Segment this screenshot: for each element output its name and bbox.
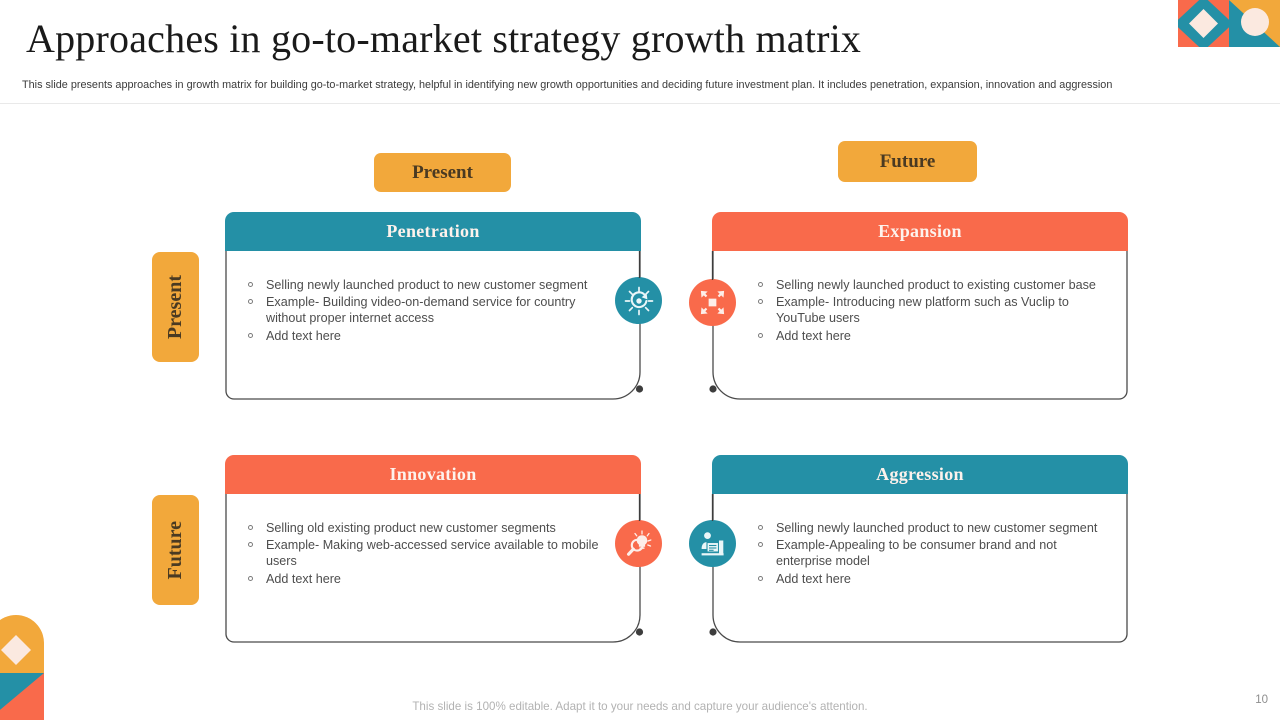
list-item: Example-Appealing to be consumer brand a… [753, 537, 1110, 569]
list-item: Example- Building video-on-demand servic… [243, 294, 617, 326]
bullet-list-innovation: Selling old existing product new custome… [243, 520, 617, 587]
page-subtitle: This slide presents approaches in growth… [22, 78, 1188, 92]
row-label-future[interactable]: Future [152, 495, 199, 605]
card-title-penetration: Penetration [225, 212, 641, 251]
card-penetration[interactable]: Penetration Selling newly launched produ… [225, 212, 641, 400]
card-innovation[interactable]: Innovation Selling old existing product … [225, 455, 641, 643]
footer-note: This slide is 100% editable. Adapt it to… [0, 700, 1280, 713]
card-title-innovation: Innovation [225, 455, 641, 494]
column-label-present[interactable]: Present [374, 153, 511, 192]
page-number: 10 [1255, 694, 1268, 706]
card-body-aggression: Selling newly launched product to new cu… [712, 494, 1128, 598]
card-title-expansion: Expansion [712, 212, 1128, 251]
list-item: Selling newly launched product to new cu… [243, 277, 617, 293]
card-aggression[interactable]: Aggression Selling newly launched produc… [712, 455, 1128, 643]
bullet-list-aggression: Selling newly launched product to new cu… [753, 520, 1110, 587]
card-body-penetration: Selling newly launched product to new cu… [225, 251, 641, 355]
expand-arrows-icon [689, 279, 736, 326]
card-title-aggression: Aggression [712, 455, 1128, 494]
bullet-list-penetration: Selling newly launched product to new cu… [243, 277, 617, 344]
row-label-future-text: Future [164, 521, 187, 580]
list-item: Add text here [753, 328, 1110, 344]
list-item: Add text here [753, 571, 1110, 587]
list-item: Selling old existing product new custome… [243, 520, 617, 536]
list-item: Selling newly launched product to existi… [753, 277, 1110, 293]
card-expansion[interactable]: Expansion Selling newly launched product… [712, 212, 1128, 400]
slide-header: Approaches in go-to-market strategy grow… [0, 0, 1280, 104]
list-item: Example- Introducing new platform such a… [753, 294, 1110, 326]
list-item: Example- Making web-accessed service ava… [243, 537, 617, 569]
presenter-person-icon [689, 520, 736, 567]
column-label-future[interactable]: Future [838, 141, 977, 182]
list-item: Add text here [243, 328, 617, 344]
row-label-present[interactable]: Present [152, 252, 199, 362]
header-divider [0, 103, 1280, 104]
list-item: Selling newly launched product to new cu… [753, 520, 1110, 536]
list-item: Add text here [243, 571, 617, 587]
card-body-innovation: Selling old existing product new custome… [225, 494, 641, 598]
card-body-expansion: Selling newly launched product to existi… [712, 251, 1128, 355]
page-title: Approaches in go-to-market strategy grow… [26, 16, 1156, 62]
decoration-top-right [1178, 0, 1280, 47]
lightbulb-magnifier-icon [615, 520, 662, 567]
row-label-present-text: Present [164, 275, 187, 339]
bullet-list-expansion: Selling newly launched product to existi… [753, 277, 1110, 344]
target-refresh-icon [615, 277, 662, 324]
